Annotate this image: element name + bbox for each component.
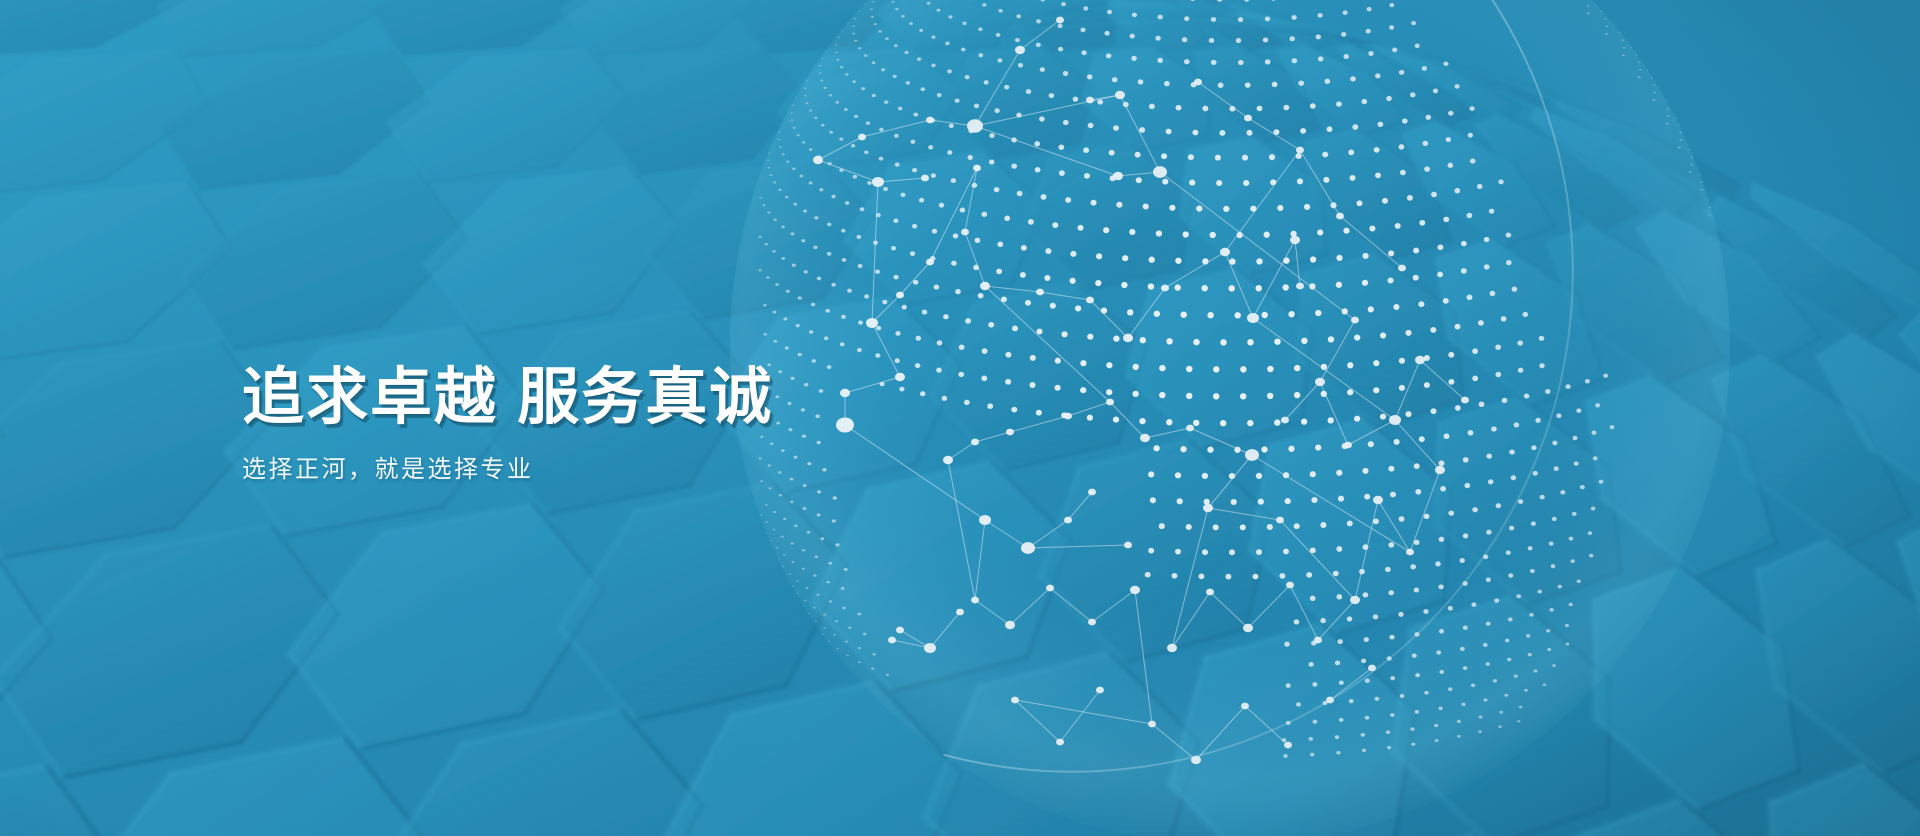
- globe-graphic: [0, 0, 1920, 836]
- hero-banner: 追求卓越 服务真诚 选择正河，就是选择专业: [0, 0, 1920, 836]
